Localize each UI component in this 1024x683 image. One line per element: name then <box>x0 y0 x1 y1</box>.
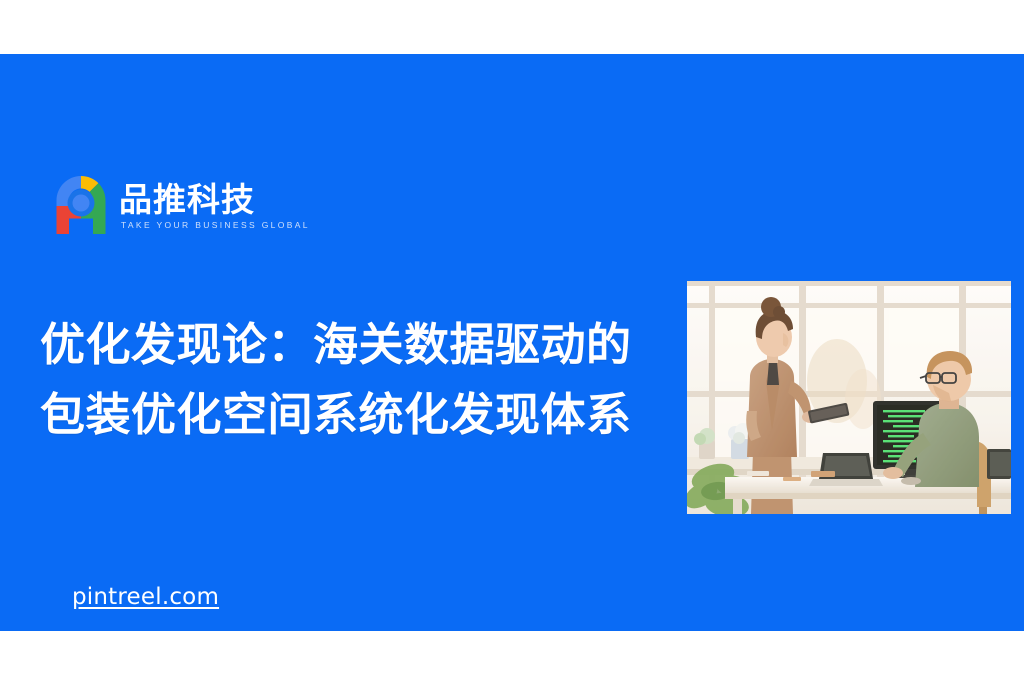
office-team-photo <box>687 281 1011 514</box>
slide-canvas: 品推科技 TAKE YOUR BUSINESS GLOBAL 优化发现论：海关数… <box>0 0 1024 683</box>
brand-logo[interactable]: 品推科技 TAKE YOUR BUSINESS GLOBAL <box>52 172 310 238</box>
headline: 优化发现论：海关数据驱动的 包装优化空间系统化发现体系 <box>40 310 690 450</box>
pintreel-pa-logo-icon <box>52 172 110 238</box>
site-url-link[interactable]: pintreel.com <box>72 582 219 612</box>
blue-banner: 品推科技 TAKE YOUR BUSINESS GLOBAL 优化发现论：海关数… <box>0 54 1024 631</box>
logo-name-cn: 品推科技 <box>119 181 310 219</box>
logo-tagline: TAKE YOUR BUSINESS GLOBAL <box>119 219 310 231</box>
logo-wordmark: 品推科技 TAKE YOUR BUSINESS GLOBAL <box>119 179 310 231</box>
headline-line-1: 优化发现论：海关数据驱动的 <box>40 310 690 380</box>
headline-line-2: 包装优化空间系统化发现体系 <box>40 380 690 450</box>
